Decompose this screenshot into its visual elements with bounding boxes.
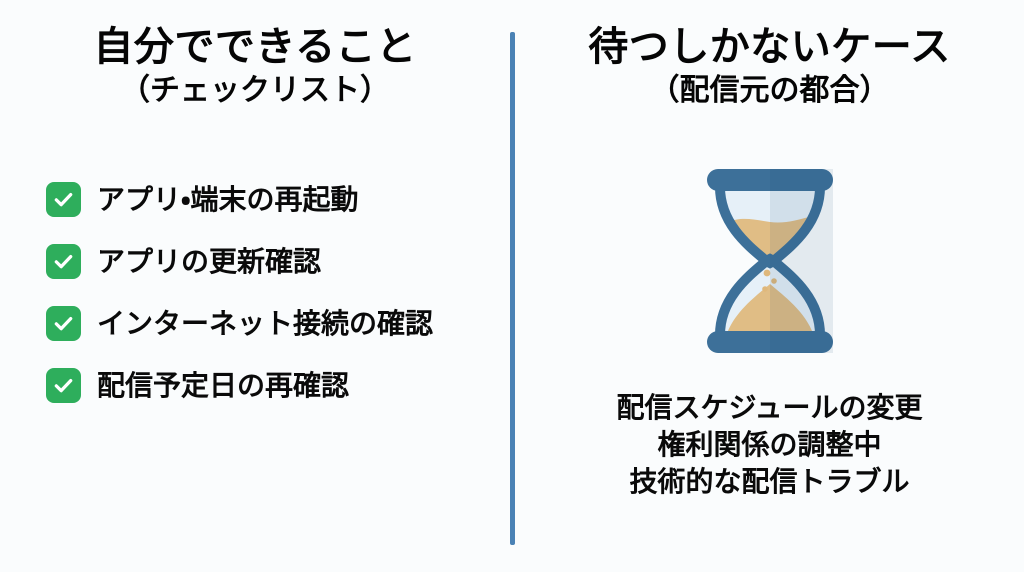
hourglass-icon: [694, 160, 846, 362]
reason-item: 配信スケジュールの変更: [515, 390, 1024, 427]
reason-item: 技術的な配信トラブル: [515, 464, 1024, 501]
left-column: 自分でできること （チェックリスト） アプリ・端末の再起動 アプリの更新確認: [0, 0, 510, 572]
checklist-item-label: アプリの更新確認: [97, 248, 321, 276]
checklist-item-label: アプリ・端末の再起動: [97, 186, 359, 214]
reason-item: 権利関係の調整中: [515, 427, 1024, 464]
hourglass-illustration: [515, 160, 1024, 362]
checklist-item[interactable]: アプリの更新確認: [46, 244, 433, 279]
check-icon[interactable]: [46, 306, 81, 341]
checklist-item-label: インターネット接続の確認: [97, 310, 433, 338]
check-icon[interactable]: [46, 368, 81, 403]
left-heading-sub: （チェックリスト）: [0, 74, 510, 108]
check-icon[interactable]: [46, 244, 81, 279]
right-column: 待つしかないケース （配信元の都合）: [515, 0, 1024, 572]
reasons-list: 配信スケジュールの変更 権利関係の調整中 技術的な配信トラブル: [515, 390, 1024, 501]
right-heading-sub: （配信元の都合）: [515, 74, 1024, 108]
right-heading-main: 待つしかないケース: [515, 26, 1024, 68]
checklist: アプリ・端末の再起動 アプリの更新確認 インターネット接続の確認: [46, 182, 433, 403]
checklist-item-label: 配信予定日の再確認: [97, 372, 349, 400]
checklist-item[interactable]: 配信予定日の再確認: [46, 368, 433, 403]
check-icon[interactable]: [46, 182, 81, 217]
left-heading-main: 自分でできること: [0, 26, 510, 68]
left-heading-block: 自分でできること （チェックリスト）: [0, 26, 510, 108]
right-heading-block: 待つしかないケース （配信元の都合）: [515, 26, 1024, 108]
sand-grain: [763, 270, 770, 277]
checklist-item[interactable]: インターネット接続の確認: [46, 306, 433, 341]
slide-root: 自分でできること （チェックリスト） アプリ・端末の再起動 アプリの更新確認: [0, 0, 1024, 572]
checklist-item[interactable]: アプリ・端末の再起動: [46, 182, 433, 217]
sand-grain: [762, 286, 768, 292]
